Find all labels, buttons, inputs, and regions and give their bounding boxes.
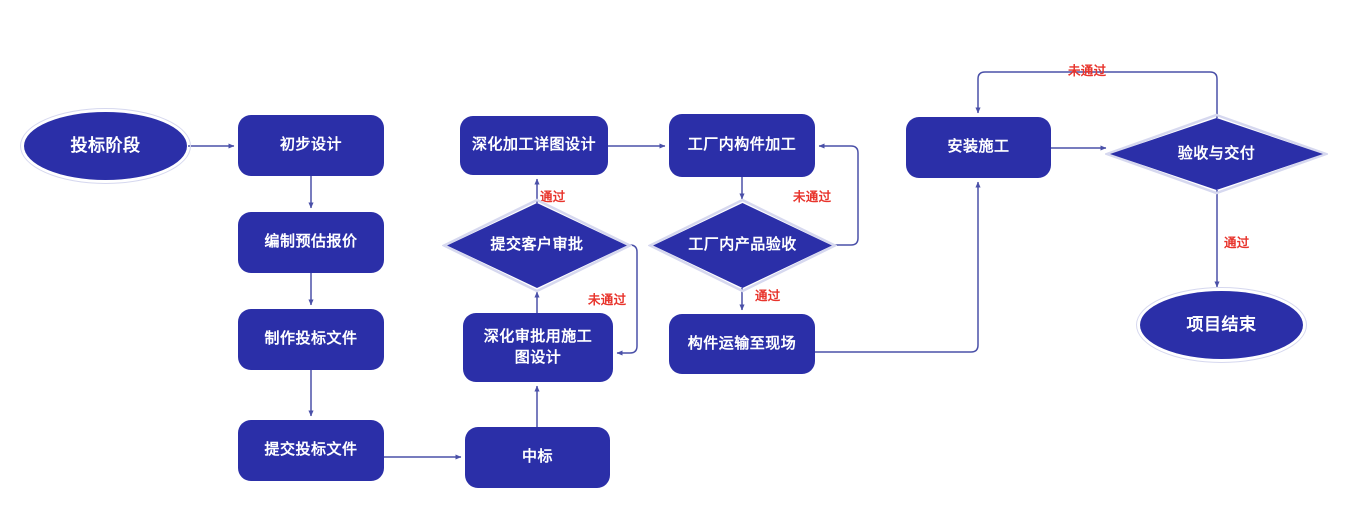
node-label: 工厂内产品验收 [682,235,803,255]
edge-label-acceptance-fail: 未通过 [1068,60,1106,79]
node-label: 深化加工详图设计 [466,135,602,155]
node-detail-fabrication-drawing[interactable]: 深化加工详图设计 [460,116,608,175]
node-make-bid-document[interactable]: 制作投标文件 [238,309,384,370]
node-label: 工厂内构件加工 [682,135,803,155]
flowchart-canvas: 深化加工详图设计 --> 深化审批用施工图设计 (loop right/down… [0,0,1348,531]
node-label: 制作投标文件 [258,329,363,349]
node-label: 编制预估报价 [258,232,363,252]
node-submit-client-approval[interactable]: 提交客户审批 [447,203,627,288]
node-label: 投标阶段 [65,135,147,158]
node-label: 深化审批用施工 图设计 [478,327,599,368]
node-acceptance-and-delivery[interactable]: 验收与交付 [1110,118,1323,190]
node-label: 项目结束 [1181,314,1263,337]
node-factory-product-inspection[interactable]: 工厂内产品验收 [653,203,832,288]
node-prepare-estimate-quote[interactable]: 编制预估报价 [238,212,384,273]
node-factory-component-fabrication[interactable]: 工厂内构件加工 [669,114,815,177]
node-label: 中标 [516,447,559,467]
node-bid-stage[interactable]: 投标阶段 [24,112,187,180]
node-label: 提交客户审批 [484,235,589,255]
edge-transport-to-install [815,182,978,352]
node-transport-to-site[interactable]: 构件运输至现场 [669,314,815,374]
node-label: 构件运输至现场 [682,334,803,354]
node-label: 验收与交付 [1172,144,1262,164]
node-preliminary-design[interactable]: 初步设计 [238,115,384,176]
node-installation-construction[interactable]: 安装施工 [906,117,1051,178]
node-submit-bid-document[interactable]: 提交投标文件 [238,420,384,481]
edge-label-acceptance-pass: 通过 [1224,232,1250,251]
node-approval-construction-drawing[interactable]: 深化审批用施工 图设计 [463,313,613,382]
node-win-bid[interactable]: 中标 [465,427,610,488]
node-label: 提交投标文件 [258,440,363,460]
node-project-end[interactable]: 项目结束 [1140,291,1303,359]
node-label: 安装施工 [941,137,1015,157]
node-label: 初步设计 [274,135,348,155]
